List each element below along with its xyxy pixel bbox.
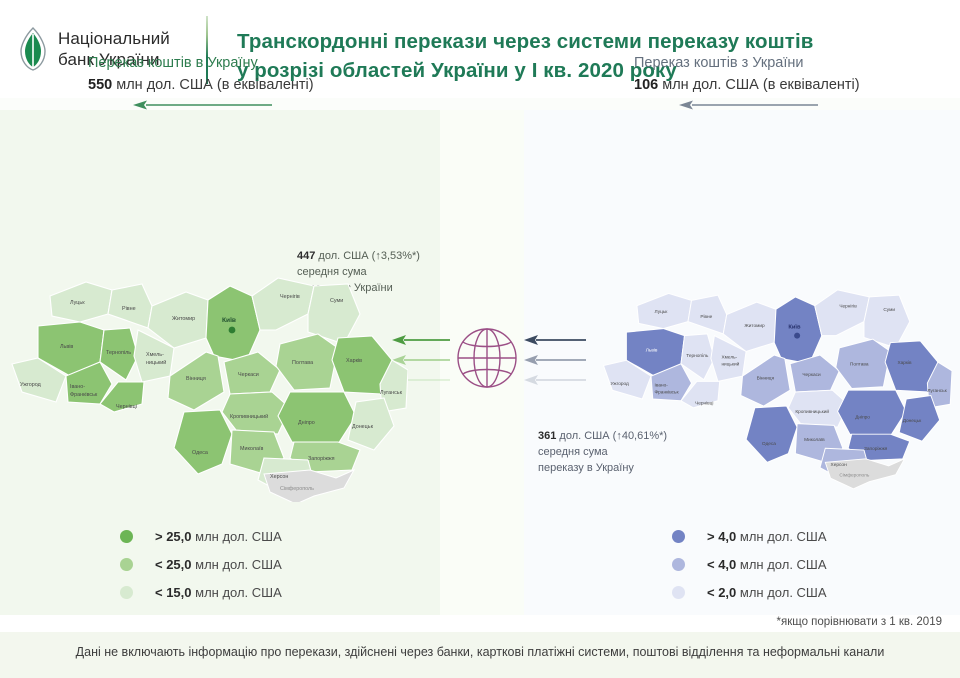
logo-line-1: Національний: [58, 28, 170, 49]
legend-color-swatch: [120, 530, 133, 543]
svg-text:Франківськ: Франківськ: [655, 390, 680, 396]
outbound-ukraine-map: Луцьк Рівне Житомир Чернігів Суми Київ Л…: [600, 252, 952, 502]
svg-text:Івано-: Івано-: [655, 383, 669, 389]
svg-text:Київ: Київ: [222, 317, 236, 324]
svg-text:Дніпро: Дніпро: [855, 414, 870, 420]
legend-threshold: < 15,0: [155, 585, 192, 600]
inbound-legend: > 25,0 млн дол. США < 25,0 млн дол. США …: [120, 522, 282, 606]
globe-icon: [455, 326, 519, 390]
svg-text:Запоріжжя: Запоріжжя: [308, 456, 335, 462]
legend-color-swatch: [672, 558, 685, 571]
svg-text:Полтава: Полтава: [850, 362, 869, 368]
svg-text:Полтава: Полтава: [292, 360, 313, 366]
svg-text:Черкаси: Черкаси: [238, 372, 259, 378]
svg-text:Вінниця: Вінниця: [757, 376, 775, 382]
outbound-flow-arrows: [524, 334, 586, 386]
legend-item-label: < 4,0 млн дол. США: [707, 557, 827, 572]
legend-threshold: < 25,0: [155, 557, 192, 572]
legend-color-swatch: [120, 586, 133, 599]
legend-item: > 4,0 млн дол. США: [672, 522, 827, 550]
legend-item-label: < 2,0 млн дол. США: [707, 585, 827, 600]
svg-text:Одеса: Одеса: [192, 450, 208, 456]
legend-item: > 25,0 млн дол. США: [120, 522, 282, 550]
svg-text:Одеса: Одеса: [762, 441, 776, 447]
footer-disclaimer: Дані не включають інформацію про переказ…: [0, 645, 960, 659]
svg-text:Суми: Суми: [330, 298, 343, 304]
legend-item: < 4,0 млн дол. США: [672, 550, 827, 578]
svg-text:Тернопіль: Тернопіль: [106, 350, 131, 356]
outbound-heading-label: Переказ коштів з України: [634, 52, 860, 74]
legend-unit: млн дол. США: [192, 585, 282, 600]
svg-text:Херсон: Херсон: [270, 474, 288, 480]
svg-text:Ужгород: Ужгород: [20, 382, 42, 388]
kyiv-city-dot: [229, 327, 236, 334]
legend-item-label: > 4,0 млн дол. США: [707, 529, 827, 544]
legend-unit: млн дол. США: [736, 557, 826, 572]
svg-text:Житомир: Житомир: [744, 323, 765, 329]
outbound-amount: 106 млн дол. США (в еквіваленті): [634, 74, 860, 96]
outbound-panel-heading: Переказ коштів з України 106 млн дол. СШ…: [634, 52, 860, 96]
inbound-amount: 550 млн дол. США (в еквіваленті): [88, 74, 314, 96]
svg-text:Миколаїв: Миколаїв: [804, 437, 825, 443]
svg-text:Чернівці: Чернівці: [116, 404, 137, 410]
svg-text:Дніпро: Дніпро: [298, 420, 315, 426]
infographic-root: Національний банк України Транскордонні …: [0, 0, 960, 678]
svg-text:Тернопіль: Тернопіль: [686, 353, 709, 359]
svg-text:Херсон: Херсон: [831, 462, 848, 468]
inbound-ukraine-map: Луцьк Рівне Житомир Чернігів Суми Київ Л…: [8, 252, 408, 502]
legend-unit: млн дол. США: [736, 529, 826, 544]
legend-threshold: > 25,0: [155, 529, 192, 544]
legend-item: < 2,0 млн дол. США: [672, 578, 827, 606]
legend-item-label: < 25,0 млн дол. США: [155, 557, 282, 572]
inbound-panel-heading: Переказ коштів в Україну 550 млн дол. СШ…: [88, 52, 314, 96]
outbound-legend: > 4,0 млн дол. США < 4,0 млн дол. США < …: [672, 522, 827, 606]
svg-text:Рівне: Рівне: [122, 306, 136, 312]
svg-text:Луцьк: Луцьк: [70, 300, 85, 306]
inbound-amount-unit: млн дол. США (в еквіваленті): [112, 77, 313, 93]
svg-text:Львів: Львів: [646, 347, 658, 353]
svg-text:Ужгород: Ужгород: [611, 381, 629, 387]
legend-item-label: > 25,0 млн дол. США: [155, 529, 282, 544]
svg-text:Донецьк: Донецьк: [352, 424, 374, 430]
svg-text:Сімферополь: Сімферополь: [280, 486, 314, 492]
legend-color-swatch: [120, 558, 133, 571]
legend-item: < 15,0 млн дол. США: [120, 578, 282, 606]
svg-text:Чернігів: Чернігів: [280, 294, 300, 300]
legend-color-swatch: [672, 530, 685, 543]
annotation-b-value: 361: [538, 430, 556, 442]
svg-text:Суми: Суми: [883, 307, 895, 313]
legend-unit: млн дол. США: [192, 557, 282, 572]
svg-text:Рівне: Рівне: [700, 314, 712, 320]
legend-item-label: < 15,0 млн дол. США: [155, 585, 282, 600]
inbound-amount-value: 550: [88, 77, 112, 93]
svg-text:Сімферополь: Сімферополь: [839, 472, 869, 478]
legend-threshold: > 4,0: [707, 529, 736, 544]
svg-text:Львів: Львів: [60, 344, 73, 350]
svg-text:Кропивницький: Кропивницький: [230, 413, 268, 420]
svg-text:Донецьк: Донецьк: [903, 418, 922, 424]
svg-text:Луганськ: Луганськ: [380, 390, 403, 396]
kyiv-city-dot: [794, 333, 800, 339]
svg-text:Миколаїв: Миколаїв: [240, 446, 263, 452]
svg-text:Вінниця: Вінниця: [186, 376, 206, 382]
svg-text:Івано-: Івано-: [70, 384, 85, 390]
inbound-direction-arrow-icon: [132, 98, 272, 110]
outbound-direction-arrow-icon: [678, 98, 818, 110]
legend-threshold: < 2,0: [707, 585, 736, 600]
outbound-amount-value: 106: [634, 77, 658, 93]
inbound-heading-label: Переказ коштів в Україну: [88, 52, 314, 74]
svg-text:Запоріжжя: Запоріжжя: [864, 446, 888, 452]
svg-text:Харків: Харків: [897, 360, 912, 366]
svg-text:Луцьк: Луцьк: [655, 309, 669, 315]
svg-text:ницький: ницький: [146, 359, 166, 366]
legend-threshold: < 4,0: [707, 557, 736, 572]
svg-text:Черкаси: Черкаси: [802, 372, 821, 378]
legend-unit: млн дол. США: [736, 585, 826, 600]
svg-text:Хмель-: Хмель-: [146, 352, 164, 358]
svg-text:Франківськ: Франківськ: [70, 392, 98, 398]
svg-text:Харків: Харків: [346, 358, 362, 364]
svg-text:Чернігів: Чернігів: [839, 303, 857, 309]
legend-color-swatch: [672, 586, 685, 599]
comparison-footnote: *якщо порівнювати з 1 кв. 2019: [777, 616, 943, 628]
legend-item: < 25,0 млн дол. США: [120, 550, 282, 578]
svg-text:Київ: Київ: [788, 325, 801, 331]
svg-text:Житомир: Житомир: [172, 316, 195, 322]
svg-text:Луганськ: Луганськ: [927, 388, 947, 394]
svg-text:Хмель-: Хмель-: [721, 355, 737, 361]
nbu-leaf-logo-icon: [18, 27, 48, 71]
legend-unit: млн дол. США: [192, 529, 282, 544]
outbound-amount-unit: млн дол. США (в еквіваленті): [658, 77, 859, 93]
svg-text:Чернівці: Чернівці: [695, 400, 713, 406]
